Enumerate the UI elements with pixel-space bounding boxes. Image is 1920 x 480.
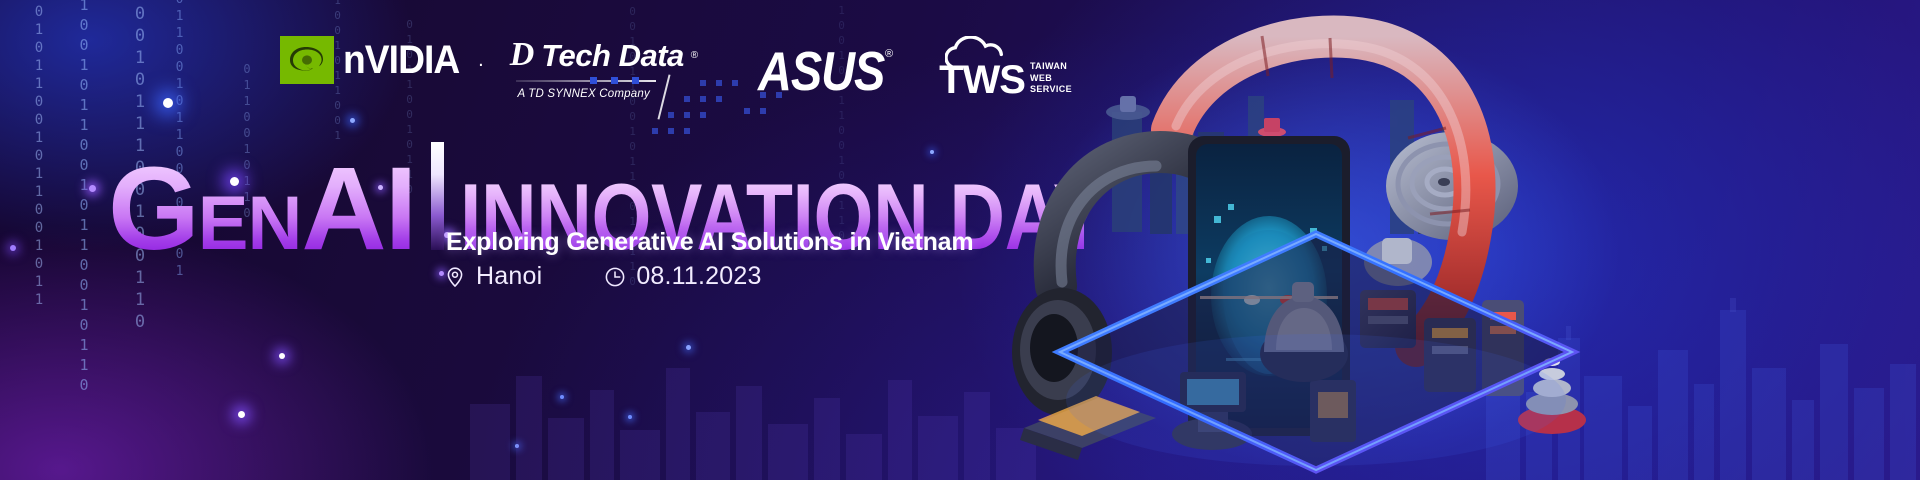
- brand-genai-g: G: [108, 161, 198, 258]
- techdata-tagline: A TD SYNNEX Company: [510, 88, 658, 100]
- event-banner: 001011001011001011 10010110010110010110 …: [0, 0, 1920, 480]
- logo-asus[interactable]: ASUS ®: [758, 36, 893, 90]
- brand-genai-a: A: [301, 161, 384, 258]
- meta-date: 08.11.2023: [604, 262, 761, 291]
- binary-stream: 10010110010110010110: [76, 0, 91, 396]
- binary-stream: 001011001011001011: [32, 0, 46, 310]
- headline-divider-bar: [431, 142, 444, 250]
- brand-genai-i: I: [385, 161, 416, 258]
- brand-genai: G EN A I: [108, 161, 415, 258]
- meta-date-label: 08.11.2023: [636, 262, 761, 291]
- page-subtitle: Exploring Generative AI Solutions in Vie…: [446, 228, 973, 257]
- nvidia-eye-icon: [280, 36, 334, 84]
- isometric-ai-tech-illustration: [1000, 0, 1620, 480]
- asus-wordmark: ASUS: [758, 44, 884, 98]
- partner-logo-row: nVIDIA . D Tech Data ® A TD SYNNE: [280, 36, 1072, 100]
- meta-location-label: Hanoi: [476, 262, 542, 291]
- meta-location: Hanoi: [444, 262, 542, 291]
- logo-techdata[interactable]: D Tech Data ® A TD SYNNEX Company: [484, 36, 698, 100]
- asus-registered-mark: ®: [885, 48, 893, 60]
- clock-icon: [604, 266, 626, 288]
- brand-genai-en: EN: [198, 193, 302, 255]
- techdata-registered-mark: ®: [691, 50, 698, 61]
- location-pin-icon: [444, 266, 466, 288]
- techdata-rule-decor: [516, 76, 656, 85]
- techdata-wordmark: Tech Data: [541, 40, 684, 71]
- logo-nvidia[interactable]: nVIDIA .: [280, 36, 484, 84]
- city-skyline-silhouette: [0, 320, 1040, 480]
- nvidia-wordmark: nVIDIA: [343, 40, 459, 80]
- event-meta-row: Hanoi 08.11.2023: [444, 262, 762, 291]
- techdata-monogram-icon: D: [510, 38, 535, 72]
